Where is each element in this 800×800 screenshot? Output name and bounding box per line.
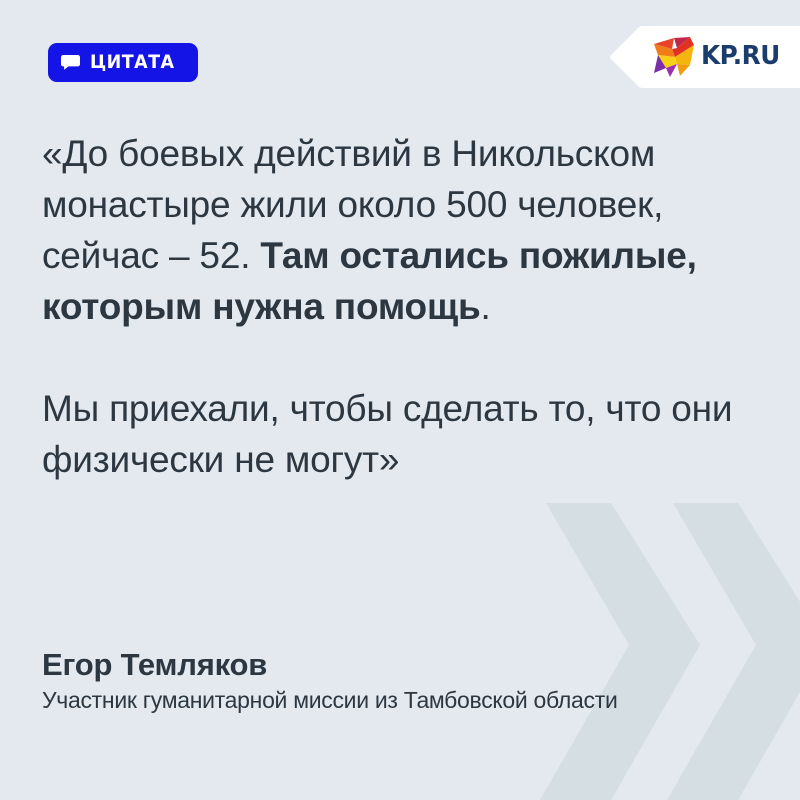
- quote-paragraph-2: Мы приехали, чтобы сделать то, что они ф…: [42, 383, 766, 485]
- author-role: Участник гуманитарной миссии из Тамбовск…: [42, 686, 618, 714]
- speech-bubble-icon: [61, 55, 80, 70]
- author-name: Егор Темляков: [42, 647, 618, 683]
- brand-logo[interactable]: KP.RU: [608, 26, 800, 88]
- chevron-watermark-2: [667, 503, 800, 800]
- brand-bird-icon: [644, 35, 698, 79]
- quote-badge: ЦИТАТА: [48, 43, 198, 82]
- quote-text-tail: .: [481, 286, 491, 327]
- quote-paragraph-1: «До боевых действий в Никольском монасты…: [42, 128, 766, 332]
- quote-card: ЦИТАТА KP.RU «До боевых действий в Никол…: [0, 0, 800, 800]
- quote-badge-label: ЦИТАТА: [90, 53, 175, 72]
- attribution: Егор Темляков Участник гуманитарной мисс…: [42, 647, 618, 714]
- brand-wordmark: KP.RU: [701, 43, 780, 69]
- header: ЦИТАТА KP.RU: [0, 0, 800, 110]
- quote-text: «До боевых действий в Никольском монасты…: [42, 128, 766, 485]
